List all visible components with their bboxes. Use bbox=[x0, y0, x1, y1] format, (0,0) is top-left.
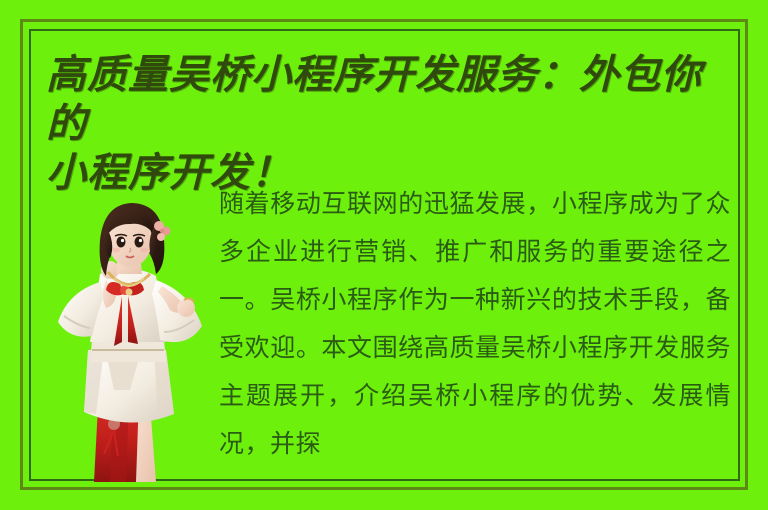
illustration-figure bbox=[44, 200, 214, 482]
page-title: 高质量吴桥小程序开发服务：外包你的 小程序开发！ bbox=[46, 50, 736, 197]
woman-illustration-icon bbox=[44, 200, 214, 482]
body-paragraph: 随着移动互联网的迅猛发展，小程序成为了众多企业进行营销、推广和服务的重要途径之一… bbox=[219, 180, 731, 468]
poster-canvas: 高质量吴桥小程序开发服务：外包你的 小程序开发！ bbox=[0, 0, 768, 510]
